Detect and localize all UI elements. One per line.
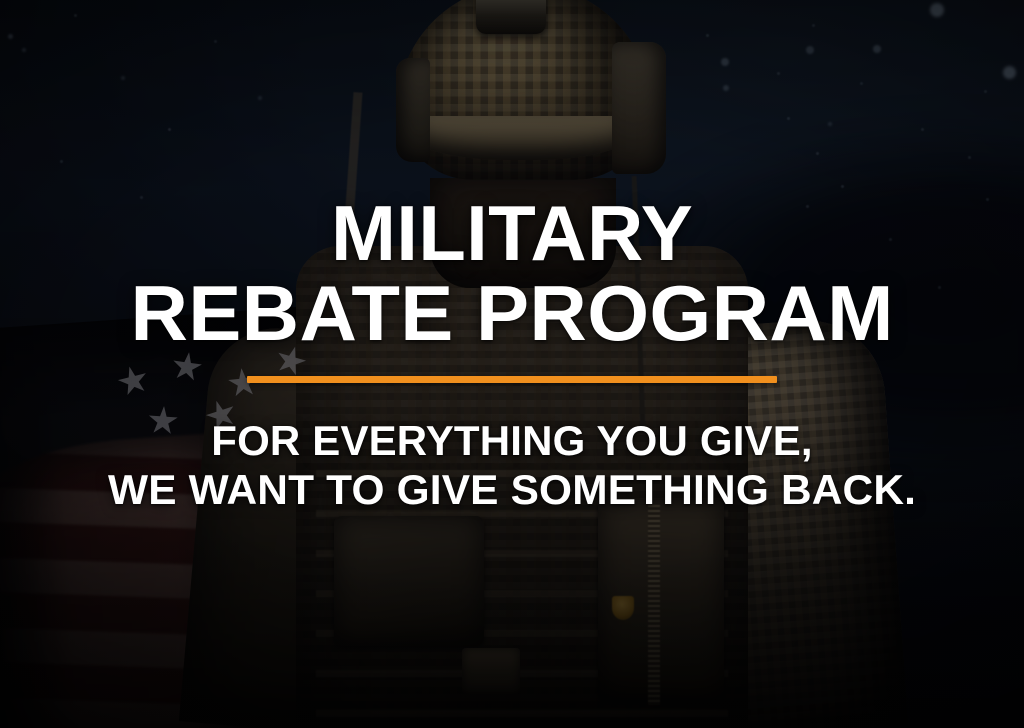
headline-line-2: REBATE PROGRAM [130,276,893,350]
military-rebate-banner: MILITARY REBATE PROGRAM FOR EVERYTHING Y… [0,0,1024,728]
text-overlay: MILITARY REBATE PROGRAM FOR EVERYTHING Y… [0,0,1024,728]
subheadline-line-1: FOR EVERYTHING YOU GIVE, [211,417,812,464]
subheadline-line-2: WE WANT TO GIVE SOMETHING BACK. [108,466,916,513]
headline-line-1: MILITARY [331,196,693,270]
orange-divider [247,376,777,383]
